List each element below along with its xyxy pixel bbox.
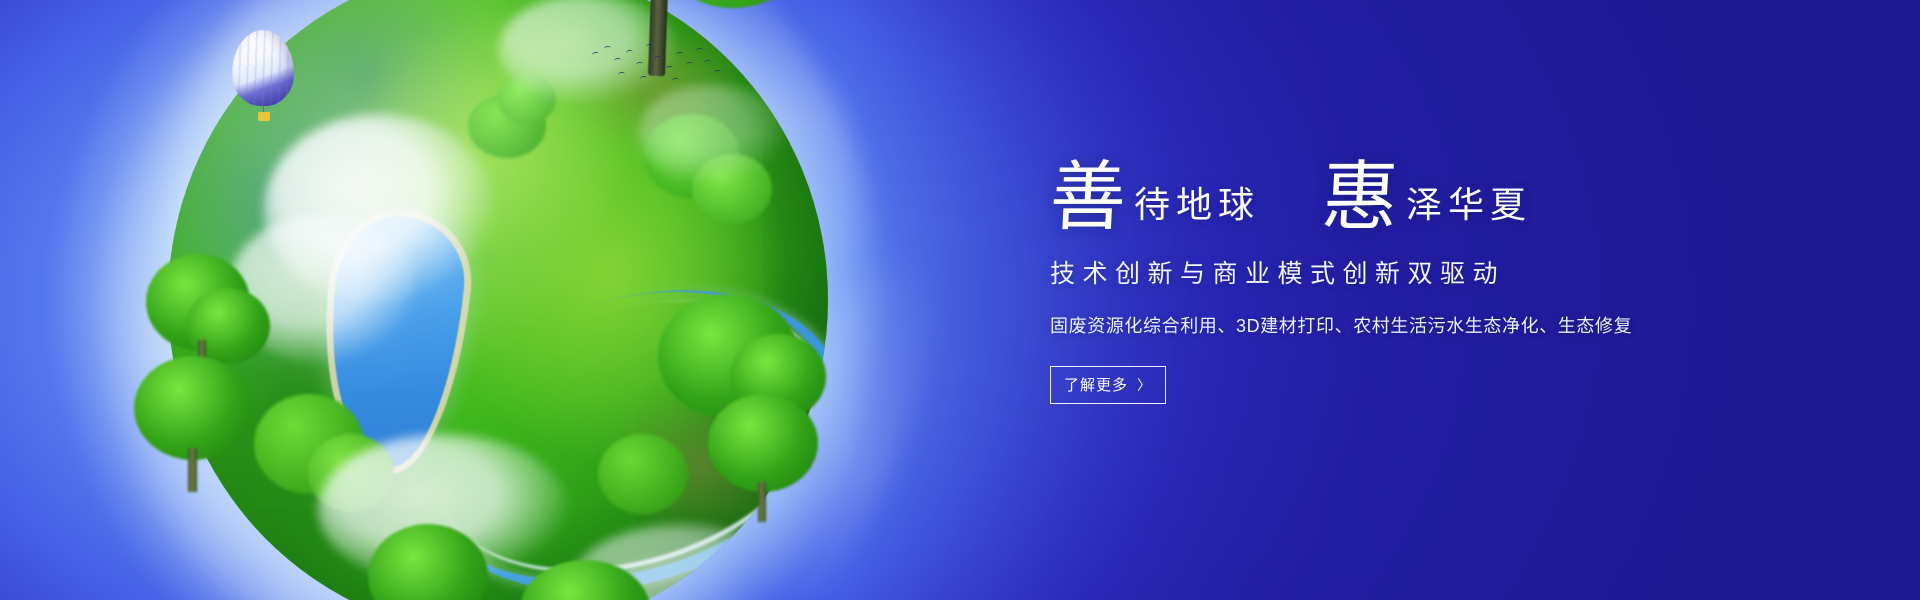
headline-big-char-2: 惠 <box>1320 162 1400 232</box>
subtitle: 技术创新与商业模式创新双驱动 <box>1050 258 1810 291</box>
learn-more-label: 了解更多 <box>1064 374 1128 395</box>
chevron-right-icon: 〉 <box>1137 378 1152 392</box>
headline-small-text-2: 泽华夏 <box>1406 188 1532 232</box>
headline: 善 待地球 惠 泽华夏 <box>1050 128 1810 232</box>
headline-big-char-1: 善 <box>1048 162 1128 232</box>
headline-group-2: 惠 泽华夏 <box>1322 162 1532 232</box>
learn-more-button[interactable]: 了解更多 〉 <box>1050 366 1166 404</box>
hero-banner: 善 待地球 惠 泽华夏 技术创新与商业模式创新双驱动 固废资源化综合利用、3D建… <box>0 0 1920 600</box>
hero-content: 善 待地球 惠 泽华夏 技术创新与商业模式创新双驱动 固废资源化综合利用、3D建… <box>1050 128 1810 404</box>
headline-small-text-1: 待地球 <box>1134 188 1260 232</box>
description: 固废资源化综合利用、3D建材打印、农村生活污水生态净化、生态修复 <box>1050 313 1810 340</box>
headline-group-1: 善 待地球 <box>1050 162 1260 232</box>
